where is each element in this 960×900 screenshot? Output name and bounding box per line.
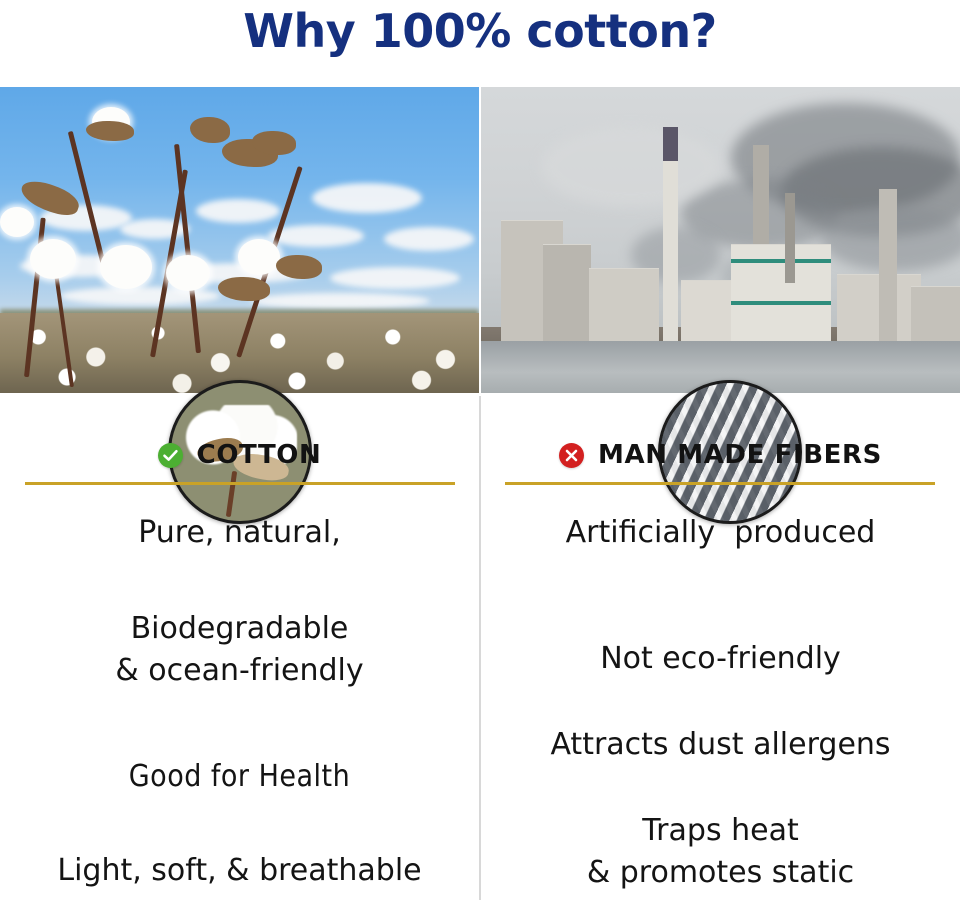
cloud-shape xyxy=(312,183,422,213)
cotton-boll xyxy=(100,245,152,289)
photo-band xyxy=(0,87,960,393)
cloud-shape xyxy=(384,227,474,251)
factory-building xyxy=(911,286,960,341)
cotton-closeup-stem xyxy=(226,471,237,517)
teal-stripe xyxy=(731,301,831,305)
list-item: Artificially produced xyxy=(481,512,960,554)
cloud-shape xyxy=(250,293,430,309)
list-item: Good for Health xyxy=(0,756,479,798)
column-header-man-made-fibers: MAN MADE FIBERS xyxy=(481,437,960,473)
smokestack xyxy=(879,189,897,341)
check-circle-icon xyxy=(158,443,183,468)
smokestack-cap xyxy=(663,127,678,161)
list-item: Biodegradable & ocean-friendly xyxy=(0,608,479,692)
x-circle-icon xyxy=(559,443,584,468)
list-item: Traps heat & promotes static xyxy=(481,810,960,894)
cotton-boll xyxy=(238,239,280,275)
factory-building xyxy=(543,244,591,341)
cotton-boll xyxy=(166,255,210,291)
cloud-shape xyxy=(120,219,190,239)
list-item: Light, soft, & breathable xyxy=(0,850,479,892)
factory-building xyxy=(589,268,659,341)
cloud-shape xyxy=(330,267,460,289)
cloud-shape xyxy=(541,127,721,207)
column-title-cotton: COTTON xyxy=(197,440,322,470)
factory-building xyxy=(731,244,831,341)
column-rule-left xyxy=(25,482,455,485)
list-item: Attracts dust allergens xyxy=(481,724,960,766)
column-title-man-made-fibers: MAN MADE FIBERS xyxy=(598,440,882,470)
infographic-root: Why 100% cotton? xyxy=(0,0,960,900)
smokestack xyxy=(663,131,678,341)
list-item: Pure, natural, xyxy=(0,512,479,554)
page-title: Why 100% cotton? xyxy=(0,0,960,70)
cotton-boll xyxy=(30,239,76,279)
cotton-boll xyxy=(0,207,34,237)
teal-stripe xyxy=(731,259,831,263)
list-item: Not eco-friendly xyxy=(481,638,960,680)
factory-photo xyxy=(481,87,960,393)
column-header-cotton: COTTON xyxy=(0,437,479,473)
column-rule-right xyxy=(505,482,935,485)
cotton-field-photo xyxy=(0,87,479,393)
smokestack xyxy=(785,193,795,283)
cloud-shape xyxy=(196,199,280,223)
